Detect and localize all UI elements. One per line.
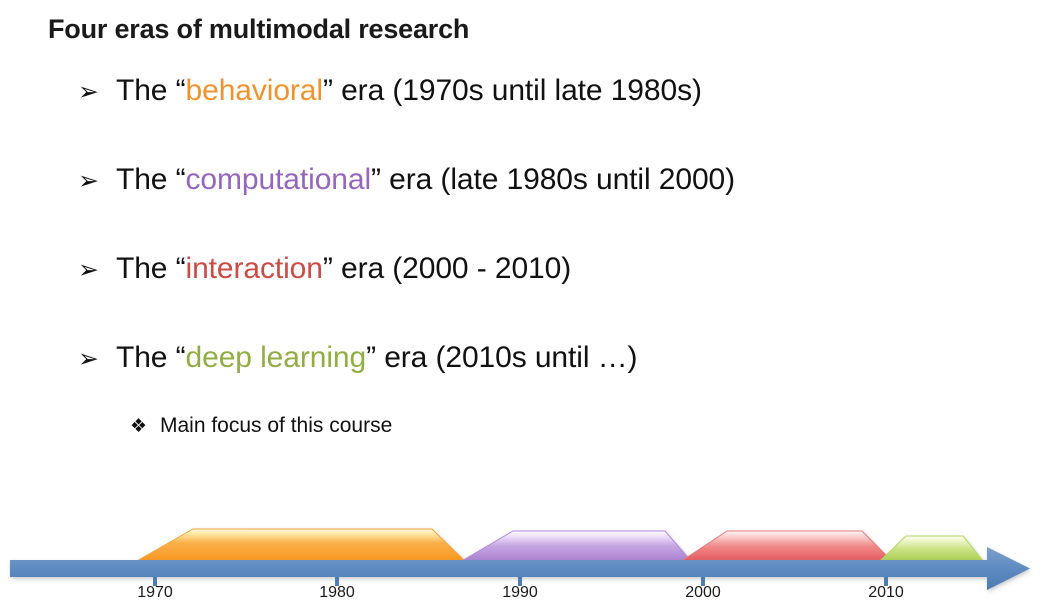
bullet-suffix: ” era (late 1980s until 2000) xyxy=(371,163,735,196)
bullet-keyword-interaction: interaction xyxy=(186,252,323,285)
sub-list-item: ❖ Main focus of this course xyxy=(130,414,392,438)
page-title: Four eras of multimodal research xyxy=(48,14,469,45)
bullet-text: The “deep learning” era (2010s until …) xyxy=(116,341,637,376)
bullet-keyword-computational: computational xyxy=(186,163,371,196)
list-item: ➢ The “behavioral” era (1970s until late… xyxy=(78,74,978,163)
arrowhead-bullet-icon: ➢ xyxy=(78,168,116,193)
tick-label-2010: 2010 xyxy=(868,584,904,602)
bullet-prefix: The “ xyxy=(116,163,186,196)
bullet-suffix: ” era (2010s until …) xyxy=(366,341,637,374)
arrowhead-bullet-icon: ➢ xyxy=(78,79,116,104)
diamond-bullet-icon: ❖ xyxy=(130,415,160,437)
tick-label-2000: 2000 xyxy=(685,584,721,602)
timeline-chart: 1970 1980 1990 2000 2010 xyxy=(0,505,1054,598)
bullet-prefix: The “ xyxy=(116,252,186,285)
sub-bullet-label: Main focus of this course xyxy=(160,414,392,438)
arrowhead-bullet-icon: ➢ xyxy=(78,346,116,371)
bullet-text: The “behavioral” era (1970s until late 1… xyxy=(116,74,702,109)
tick-label-1990: 1990 xyxy=(502,584,538,602)
era-shape-behavioral xyxy=(135,529,466,562)
list-item: ➢ The “computational” era (late 1980s un… xyxy=(78,163,978,252)
era-shape-interaction xyxy=(680,531,893,562)
era-shape-deep-learning xyxy=(879,536,984,562)
bullet-text: The “computational” era (late 1980s unti… xyxy=(116,163,735,198)
list-item: ➢ The “interaction” era (2000 - 2010) xyxy=(78,252,978,341)
era-shapes xyxy=(135,529,984,562)
tick-label-1970: 1970 xyxy=(137,584,173,602)
bullet-prefix: The “ xyxy=(116,74,186,107)
bullet-list: ➢ The “behavioral” era (1970s until late… xyxy=(78,74,978,430)
bullet-prefix: The “ xyxy=(116,341,186,374)
bullet-text: The “interaction” era (2000 - 2010) xyxy=(116,252,571,287)
arrowhead-bullet-icon: ➢ xyxy=(78,257,116,282)
bullet-keyword-deep-learning: deep learning xyxy=(186,341,367,374)
bullet-keyword-behavioral: behavioral xyxy=(186,74,323,107)
tick-label-1980: 1980 xyxy=(319,584,355,602)
era-shape-computational xyxy=(460,531,692,562)
bullet-suffix: ” era (1970s until late 1980s) xyxy=(323,74,702,107)
bullet-suffix: ” era (2000 - 2010) xyxy=(323,252,571,285)
